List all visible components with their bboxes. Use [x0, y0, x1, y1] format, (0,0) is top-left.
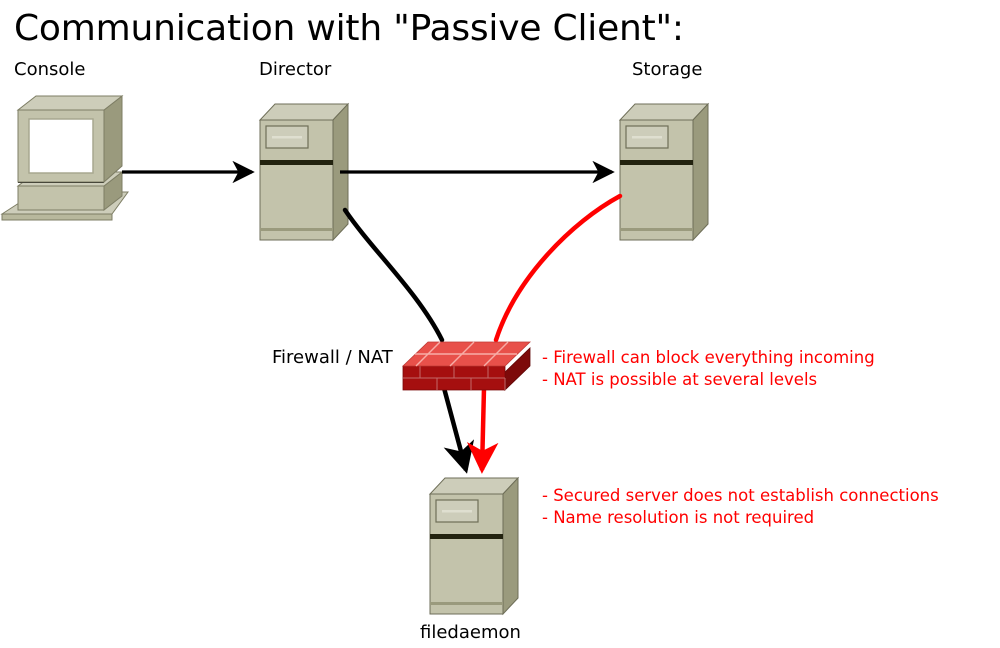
diagram-canvas: Communication with "Passive Client":	[0, 0, 1000, 648]
node-label-filedaemon: filedaemon	[420, 622, 521, 643]
node-label-console: Console	[14, 59, 85, 80]
diagram-graphics	[0, 0, 1000, 648]
curve-director-to-firewall	[345, 210, 442, 340]
desktop-computer-icon	[2, 96, 128, 220]
node-label-firewall: Firewall / NAT	[272, 347, 393, 368]
annotation-filedaemon-line-2: - Name resolution is not required	[542, 507, 939, 529]
server-tower-filedaemon-icon	[430, 478, 518, 614]
server-tower-storage-icon	[620, 104, 708, 240]
annotation-firewall: - Firewall can block everything incoming…	[542, 347, 875, 391]
arrow-firewall-to-filedaemon-black	[444, 388, 466, 470]
brick-wall-icon	[403, 342, 530, 390]
curve-storage-to-firewall	[496, 196, 620, 340]
server-tower-director-icon	[260, 104, 348, 240]
annotation-firewall-line-2: - NAT is possible at several levels	[542, 369, 875, 391]
annotation-filedaemon: - Secured server does not establish conn…	[542, 485, 939, 529]
arrow-firewall-to-filedaemon-red	[482, 388, 484, 470]
annotation-firewall-line-1: - Firewall can block everything incoming	[542, 347, 875, 369]
annotation-filedaemon-line-1: - Secured server does not establish conn…	[542, 485, 939, 507]
node-label-director: Director	[259, 59, 331, 80]
node-label-storage: Storage	[632, 59, 702, 80]
